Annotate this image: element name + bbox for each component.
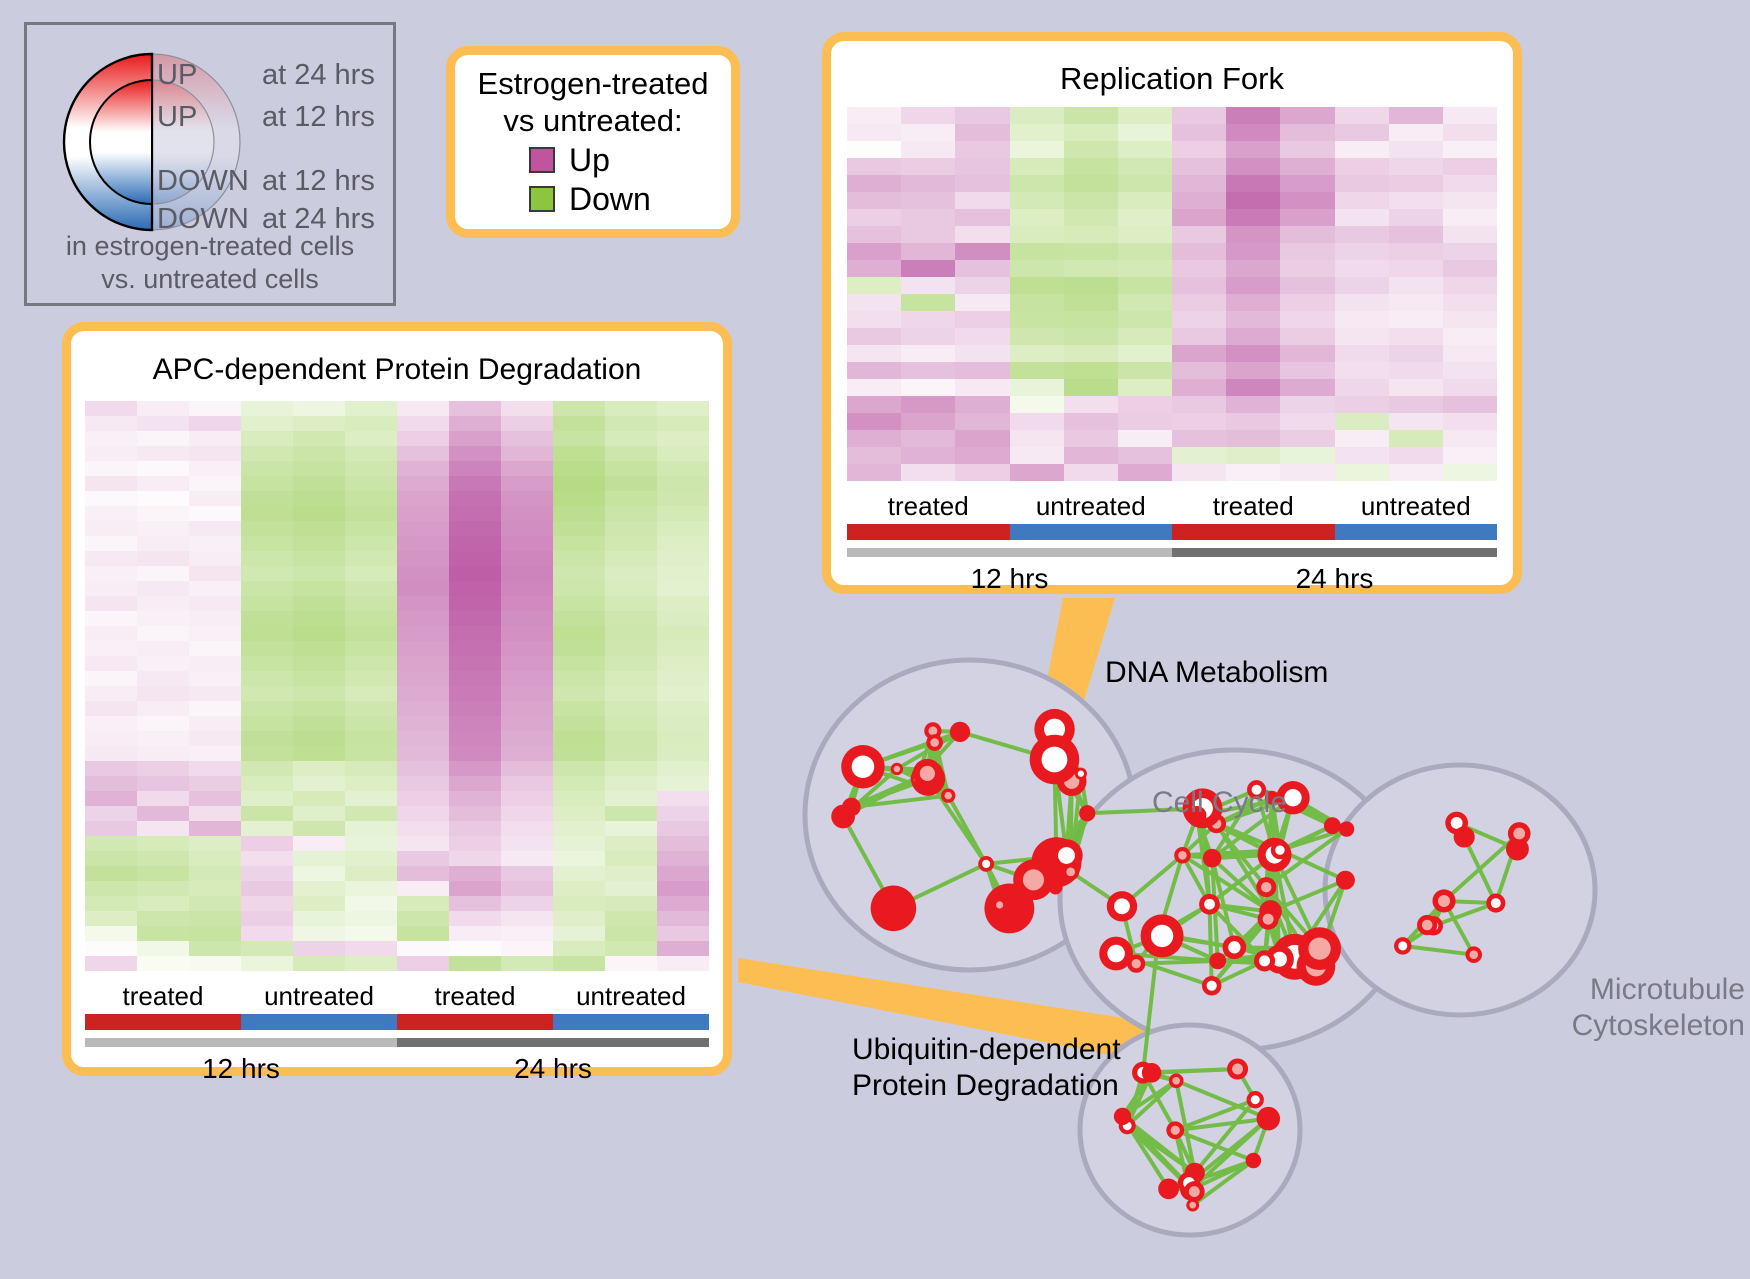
heatmap-cell xyxy=(605,581,657,596)
network-node[interactable] xyxy=(842,798,861,817)
heatmap-cell xyxy=(1118,311,1172,328)
heatmap-cell xyxy=(345,881,397,896)
heatmap-cell xyxy=(137,761,189,776)
heatmap-cell xyxy=(345,896,397,911)
heatmap-cell xyxy=(241,581,293,596)
node-core xyxy=(1132,959,1141,968)
heatmap-cell xyxy=(345,716,397,731)
heatmap-cell xyxy=(501,521,553,536)
heatmap-cell xyxy=(1172,124,1226,141)
heatmap-cell xyxy=(241,881,293,896)
heatmap-cell xyxy=(85,866,137,881)
heatmap-cell xyxy=(345,506,397,521)
heatmap-cell xyxy=(1010,328,1064,345)
node-core xyxy=(1213,957,1222,966)
heatmap-cell xyxy=(85,776,137,791)
heatmap-cell xyxy=(1335,158,1389,175)
heatmap-cell xyxy=(189,881,241,896)
heatmap-cell xyxy=(137,596,189,611)
heatmap-cell xyxy=(137,611,189,626)
heatmap-cell xyxy=(85,461,137,476)
legend-caption: in estrogen-treated cells vs. untreated … xyxy=(27,230,393,296)
heatmap-cell xyxy=(397,641,449,656)
heatmap-cell xyxy=(137,671,189,686)
heatmap-cell xyxy=(241,536,293,551)
condition-bar-untreated xyxy=(553,1014,709,1030)
heatmap-cell xyxy=(85,401,137,416)
heatmap-cell xyxy=(501,581,553,596)
heatmap-cell xyxy=(657,641,709,656)
heatmap-cell xyxy=(293,806,345,821)
heatmap-cell xyxy=(847,430,901,447)
network-node[interactable] xyxy=(1166,1121,1184,1139)
heatmap-cell xyxy=(449,866,501,881)
heatmap-cell xyxy=(901,192,955,209)
network-node[interactable] xyxy=(1142,1063,1162,1083)
node-core xyxy=(1308,937,1330,959)
heatmap-cell xyxy=(657,686,709,701)
node-core xyxy=(1469,950,1478,959)
heatmap-cell xyxy=(1280,243,1334,260)
network-node[interactable] xyxy=(1246,1153,1262,1169)
time-color-bar-apc xyxy=(85,1038,709,1047)
node-core xyxy=(1398,941,1407,950)
heatmap-cell xyxy=(605,611,657,626)
node-core xyxy=(1118,1112,1127,1121)
node-core xyxy=(1261,882,1271,892)
heatmap-cell xyxy=(241,746,293,761)
node-core xyxy=(1058,847,1075,864)
heatmap-cell xyxy=(1064,124,1118,141)
heatmap-cell xyxy=(293,671,345,686)
heatmap-cell xyxy=(1335,447,1389,464)
node-core xyxy=(1232,1064,1243,1075)
heatmap-cell xyxy=(345,701,397,716)
heatmap-cell xyxy=(293,641,345,656)
heatmap-cell xyxy=(657,731,709,746)
heatmap-cell xyxy=(1064,413,1118,430)
heatmap-cell xyxy=(397,521,449,536)
heatmap-cell xyxy=(1010,192,1064,209)
heatmap-cell xyxy=(241,956,293,971)
heatmap-cell xyxy=(1010,464,1064,481)
heatmap-cell xyxy=(397,926,449,941)
heatmap-cell xyxy=(449,836,501,851)
heatmap-cell xyxy=(293,656,345,671)
network-node[interactable] xyxy=(1030,735,1080,785)
heatmap-cell xyxy=(501,416,553,431)
condition-labels-replication: treated untreated treated untreated xyxy=(847,491,1497,522)
heatmap-cell xyxy=(397,506,449,521)
legend-caption-line1: in estrogen-treated cells xyxy=(27,230,393,263)
heatmap-cell xyxy=(345,446,397,461)
heatmap-cell xyxy=(847,209,901,226)
network-node[interactable] xyxy=(993,898,1007,912)
heatmap-cell xyxy=(1280,396,1334,413)
heatmap-cell xyxy=(553,821,605,836)
network-node[interactable] xyxy=(1114,1108,1131,1125)
network-node[interactable] xyxy=(871,886,917,932)
heatmap-cell xyxy=(449,851,501,866)
heatmap-cell xyxy=(449,776,501,791)
condition-label: treated xyxy=(847,491,1010,522)
heatmap-cell xyxy=(293,611,345,626)
heatmap-cell xyxy=(553,611,605,626)
heatmap-cell xyxy=(501,791,553,806)
network-node[interactable] xyxy=(1257,1107,1280,1130)
network-node[interactable] xyxy=(1203,849,1222,868)
legend-label-down: Down xyxy=(569,181,651,218)
heatmap-cell xyxy=(553,731,605,746)
heatmap-cell xyxy=(137,896,189,911)
heatmap-cell xyxy=(1172,192,1226,209)
heatmap-cell xyxy=(1443,430,1497,447)
heatmap-cell xyxy=(1010,243,1064,260)
heatmap-cell xyxy=(137,746,189,761)
network-node[interactable] xyxy=(1432,889,1455,912)
heatmap-cell xyxy=(189,491,241,506)
node-core xyxy=(1228,941,1240,953)
heatmap-cell xyxy=(657,836,709,851)
node-core xyxy=(1151,925,1173,947)
heatmap-cell xyxy=(1172,175,1226,192)
heatmap-cell xyxy=(397,836,449,851)
heatmap-cell xyxy=(345,656,397,671)
heatmap-cell xyxy=(1010,158,1064,175)
legend-direction: UP xyxy=(157,101,262,134)
heatmap-cell xyxy=(1389,141,1443,158)
heatmap-cell xyxy=(1335,396,1389,413)
heatmap-cell xyxy=(85,836,137,851)
network-node[interactable] xyxy=(1075,768,1087,780)
panel-title-replication-fork: Replication Fork xyxy=(847,61,1497,97)
heatmap-cell xyxy=(605,836,657,851)
heatmap-cell xyxy=(901,447,955,464)
heatmap-cell xyxy=(241,521,293,536)
legend-item-up: Up xyxy=(529,142,610,179)
heatmap-cell xyxy=(501,836,553,851)
node-core xyxy=(1207,981,1217,991)
network-node[interactable] xyxy=(1298,927,1341,970)
heatmap-cell xyxy=(1118,430,1172,447)
node-core xyxy=(852,755,875,778)
heatmap-cell xyxy=(189,926,241,941)
network-node[interactable] xyxy=(1199,894,1220,915)
heatmap-cell xyxy=(397,491,449,506)
heatmap-cell xyxy=(1226,311,1280,328)
cluster-label-microtubule: Microtubule Cytoskeleton xyxy=(1380,972,1745,1044)
network-node[interactable] xyxy=(841,745,884,788)
node-core xyxy=(1263,914,1274,925)
heatmap-cell xyxy=(241,656,293,671)
heatmap-cell xyxy=(449,656,501,671)
heatmap-cell xyxy=(1064,379,1118,396)
heatmap-cell xyxy=(345,491,397,506)
heatmap-cell xyxy=(553,476,605,491)
heatmap-cell xyxy=(1443,107,1497,124)
network-node[interactable] xyxy=(1247,1091,1264,1108)
cluster-label-cell-cycle: Cell Cycle xyxy=(1152,785,1287,821)
heatmap-cell xyxy=(605,626,657,641)
heatmap-cell xyxy=(345,671,397,686)
network-node[interactable] xyxy=(1394,937,1411,954)
heatmap-cell xyxy=(553,881,605,896)
heatmap-cell xyxy=(1335,311,1389,328)
heatmap-cell xyxy=(137,926,189,941)
network-node[interactable] xyxy=(950,722,970,742)
heatmap-cell xyxy=(657,866,709,881)
heatmap-cell xyxy=(293,716,345,731)
network-node[interactable] xyxy=(913,759,942,788)
heatmap-cell xyxy=(657,776,709,791)
heatmap-cell xyxy=(241,641,293,656)
network-node[interactable] xyxy=(891,763,903,775)
heatmap-cell xyxy=(449,731,501,746)
heatmap-cell xyxy=(1172,362,1226,379)
network-node[interactable] xyxy=(1271,841,1289,859)
heatmap-cell xyxy=(241,401,293,416)
heatmap-cell xyxy=(1064,209,1118,226)
heatmap-cell xyxy=(501,716,553,731)
heatmap-cell xyxy=(1389,192,1443,209)
heatmap-cell xyxy=(657,821,709,836)
heatmap-cell xyxy=(397,536,449,551)
heatmap-cell xyxy=(955,158,1009,175)
heatmap-cell xyxy=(955,107,1009,124)
legend-direction: UP xyxy=(157,59,262,92)
cluster-label-dna-metabolism: DNA Metabolism xyxy=(1105,655,1328,691)
heatmap-cell xyxy=(1172,260,1226,277)
heatmap-cell xyxy=(293,956,345,971)
node-core xyxy=(882,896,906,920)
heatmap-cell xyxy=(397,686,449,701)
heatmap-cell xyxy=(501,746,553,761)
heatmap-cell xyxy=(1010,124,1064,141)
heatmap-cell xyxy=(1064,192,1118,209)
heatmap-cell xyxy=(901,175,955,192)
heatmap-cell xyxy=(449,956,501,971)
network-node[interactable] xyxy=(1202,976,1221,995)
heatmap-cell xyxy=(657,476,709,491)
heatmap-cell xyxy=(449,566,501,581)
node-core xyxy=(1275,845,1284,854)
network-node[interactable] xyxy=(1209,952,1226,969)
network-node[interactable] xyxy=(1169,1073,1184,1088)
heatmap-cell xyxy=(85,821,137,836)
heatmap-cell xyxy=(189,476,241,491)
heatmap-cell xyxy=(605,806,657,821)
heatmap-cell xyxy=(1280,158,1334,175)
network-node[interactable] xyxy=(1454,826,1475,847)
condition-label: untreated xyxy=(1335,491,1498,522)
heatmap-cell xyxy=(85,896,137,911)
network-node[interactable] xyxy=(1465,946,1482,963)
heatmap-cell xyxy=(85,551,137,566)
panel-title-apc: APC-dependent Protein Degradation xyxy=(85,353,709,387)
heatmap-cell xyxy=(847,192,901,209)
heatmap-cell xyxy=(1064,328,1118,345)
condition-label: treated xyxy=(1172,491,1335,522)
heatmap-cell xyxy=(901,328,955,345)
heatmap-cell xyxy=(1172,328,1226,345)
heatmap-cell xyxy=(1280,362,1334,379)
heatmap-cell xyxy=(1010,345,1064,362)
heatmap-cell xyxy=(1335,192,1389,209)
heatmap-cell xyxy=(293,521,345,536)
heatmap-cell xyxy=(137,476,189,491)
network-node[interactable] xyxy=(1258,909,1279,930)
node-core xyxy=(930,738,939,747)
heatmap-cell xyxy=(449,641,501,656)
heatmap-cell xyxy=(1172,277,1226,294)
heatmap-cell xyxy=(137,956,189,971)
network-node[interactable] xyxy=(1174,847,1191,864)
down-swatch-icon xyxy=(529,186,555,212)
node-core xyxy=(1251,1095,1260,1104)
heatmap-cell xyxy=(241,716,293,731)
heatmap-cell xyxy=(1118,345,1172,362)
heatmap-cell xyxy=(553,911,605,926)
heatmap-cell xyxy=(1118,362,1172,379)
network-node[interactable] xyxy=(941,788,955,802)
heatmap-cell xyxy=(85,491,137,506)
heatmap-cell xyxy=(847,396,901,413)
condition-label: untreated xyxy=(241,981,397,1012)
heatmap-cell xyxy=(189,656,241,671)
heatmap-cell xyxy=(449,926,501,941)
heatmap-cell xyxy=(1118,447,1172,464)
network-node[interactable] xyxy=(1184,1181,1205,1202)
heatmap-cell xyxy=(1226,345,1280,362)
network-node[interactable] xyxy=(978,856,994,872)
heatmap-cell xyxy=(241,701,293,716)
heatmap-cell xyxy=(397,911,449,926)
network-node[interactable] xyxy=(1324,817,1341,834)
heatmap-cell xyxy=(137,806,189,821)
network-node[interactable] xyxy=(1107,891,1137,921)
network-node[interactable] xyxy=(1336,871,1355,890)
heatmap-cell xyxy=(397,671,449,686)
heatmap-cell xyxy=(345,626,397,641)
heatmap-cell xyxy=(449,401,501,416)
network-node[interactable] xyxy=(926,734,943,751)
heatmap-cell xyxy=(1335,328,1389,345)
node-core xyxy=(1078,771,1084,777)
heatmap-cell xyxy=(189,746,241,761)
heatmap-cell xyxy=(85,746,137,761)
network-node[interactable] xyxy=(1508,822,1531,845)
heatmap-cell xyxy=(397,596,449,611)
heatmap-cell xyxy=(847,260,901,277)
network-node[interactable] xyxy=(1254,950,1275,971)
heatmap-cell xyxy=(449,596,501,611)
heatmap-cell xyxy=(1443,413,1497,430)
network-node[interactable] xyxy=(1486,894,1505,913)
heatmap-cell xyxy=(397,566,449,581)
heatmap-cell xyxy=(397,551,449,566)
heatmap-cell xyxy=(345,686,397,701)
network-node[interactable] xyxy=(1127,955,1145,973)
heatmap-cell xyxy=(605,746,657,761)
heatmap-cell xyxy=(1443,141,1497,158)
heatmap-cell xyxy=(85,506,137,521)
heatmap-cell xyxy=(1226,379,1280,396)
heatmap-cell xyxy=(1443,362,1497,379)
heatmap-cell xyxy=(449,821,501,836)
heatmap-cell xyxy=(901,260,955,277)
network-node[interactable] xyxy=(1223,935,1247,959)
heatmap-cell xyxy=(1335,430,1389,447)
heatmap-cell xyxy=(1389,175,1443,192)
network-node[interactable] xyxy=(1339,821,1354,836)
heatmap-cell xyxy=(449,416,501,431)
heatmap-cell xyxy=(345,566,397,581)
heatmap-cell xyxy=(501,911,553,926)
time-bar-24hrs xyxy=(1172,548,1497,557)
heatmap-cell xyxy=(397,416,449,431)
heatmap-cell xyxy=(189,776,241,791)
heatmap-cell xyxy=(1443,260,1497,277)
heatmap-cell xyxy=(1389,243,1443,260)
heatmap-cell xyxy=(449,791,501,806)
node-core xyxy=(1459,832,1470,843)
heatmap-cell xyxy=(657,851,709,866)
heatmap-cell xyxy=(501,641,553,656)
heatmap-cell xyxy=(85,596,137,611)
heatmap-cell xyxy=(293,581,345,596)
network-node[interactable] xyxy=(1062,863,1079,880)
heatmap-cell xyxy=(137,626,189,641)
heatmap-cell xyxy=(397,446,449,461)
heatmap-cell xyxy=(553,521,605,536)
heatmap-cell xyxy=(553,776,605,791)
heatmap-cell xyxy=(189,956,241,971)
heatmap-cell xyxy=(137,731,189,746)
heatmap-cell xyxy=(501,611,553,626)
heatmap-cell xyxy=(1389,464,1443,481)
node-core xyxy=(1328,821,1337,830)
heatmap-cell xyxy=(1226,447,1280,464)
network-node[interactable] xyxy=(1227,1059,1248,1080)
heatmap-cell xyxy=(1335,345,1389,362)
heatmap-cell xyxy=(1226,175,1280,192)
heatmap-cell xyxy=(605,596,657,611)
heatmap-cell xyxy=(137,776,189,791)
heatmap-cell xyxy=(501,671,553,686)
network-node[interactable] xyxy=(1158,1178,1179,1199)
network-node[interactable] xyxy=(1141,914,1184,957)
heatmap-cell xyxy=(501,626,553,641)
heatmap-cell xyxy=(1064,294,1118,311)
heatmap-cell xyxy=(1335,294,1389,311)
network-node[interactable] xyxy=(1013,860,1054,901)
heatmap-cell xyxy=(397,896,449,911)
heatmap-cell xyxy=(605,941,657,956)
heatmap-cell xyxy=(85,656,137,671)
heatmap-cell xyxy=(1118,158,1172,175)
heatmap-cell xyxy=(449,551,501,566)
node-core xyxy=(1340,875,1350,885)
network-node[interactable] xyxy=(1417,915,1437,935)
network-node[interactable] xyxy=(1256,877,1276,897)
heatmap-cell xyxy=(901,141,955,158)
network-node[interactable] xyxy=(1079,805,1095,821)
heatmap-cell xyxy=(189,671,241,686)
heatmap-cell xyxy=(137,656,189,671)
heatmap-cell xyxy=(657,701,709,716)
heatmap-cell xyxy=(1443,345,1497,362)
heatmap-cell xyxy=(605,416,657,431)
